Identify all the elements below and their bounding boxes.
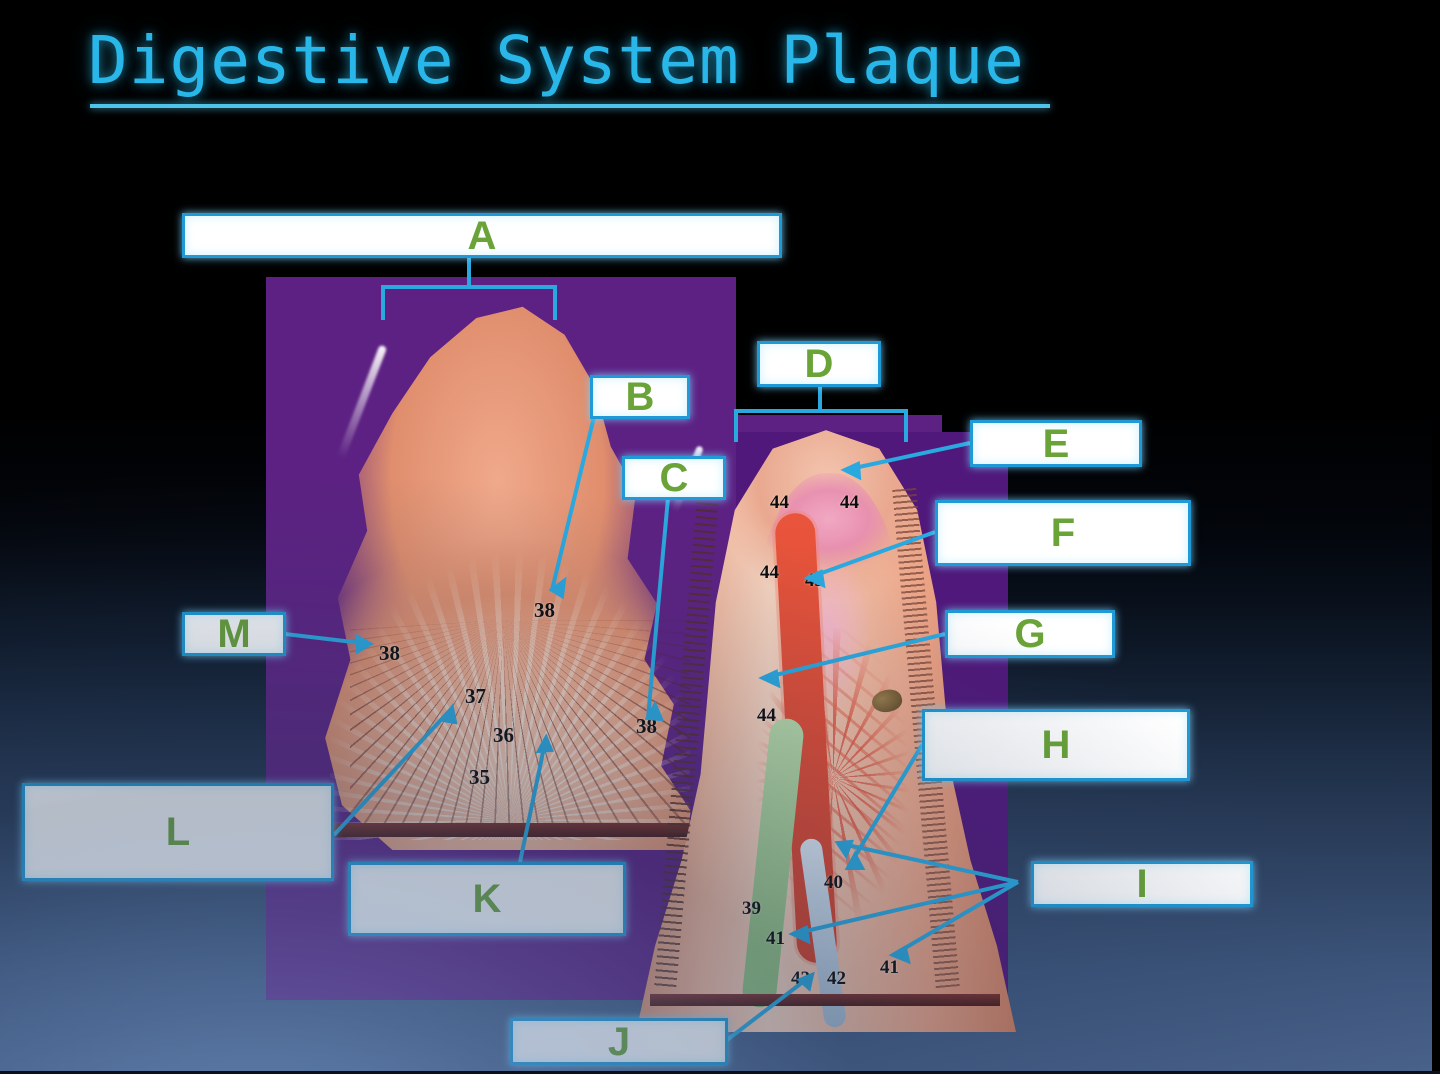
callout-43: 43 bbox=[805, 570, 824, 592]
callout-35: 35 bbox=[469, 765, 490, 790]
callout-38-right: 38 bbox=[636, 714, 657, 739]
callout-44-lower-left: 44 bbox=[757, 705, 776, 727]
callout-37: 37 bbox=[465, 684, 486, 709]
callout-38-upper-right: 38 bbox=[534, 598, 555, 623]
callout-41-left: 41 bbox=[766, 928, 785, 950]
figure-base-edge-right bbox=[650, 994, 1000, 1006]
label-l[interactable]: L bbox=[22, 783, 334, 881]
label-h[interactable]: H bbox=[922, 709, 1190, 781]
callout-42-left: 42 bbox=[791, 968, 810, 990]
callout-39: 39 bbox=[742, 898, 761, 920]
label-b[interactable]: B bbox=[590, 375, 690, 419]
label-c[interactable]: C bbox=[622, 456, 726, 500]
label-i[interactable]: I bbox=[1031, 861, 1253, 907]
right-edge-border bbox=[1432, 0, 1440, 1074]
label-j[interactable]: J bbox=[510, 1018, 728, 1065]
slide-canvas: 38 38 38 37 36 35 44 44 44 44 43 39 40 4… bbox=[0, 0, 1440, 1074]
label-d[interactable]: D bbox=[757, 341, 881, 387]
label-m[interactable]: M bbox=[182, 612, 286, 656]
callout-40: 40 bbox=[824, 872, 843, 894]
callout-44-top-right: 44 bbox=[840, 492, 859, 514]
label-g[interactable]: G bbox=[945, 610, 1115, 658]
callout-36: 36 bbox=[493, 723, 514, 748]
label-e[interactable]: E bbox=[970, 420, 1142, 467]
callout-42-right: 42 bbox=[827, 968, 846, 990]
label-f[interactable]: F bbox=[935, 500, 1191, 566]
label-k[interactable]: K bbox=[348, 862, 626, 936]
page-title: Digestive System Plaque bbox=[88, 26, 1025, 95]
title-underline bbox=[90, 104, 1050, 108]
callout-44-top-left: 44 bbox=[770, 492, 789, 514]
callout-44-mid-left: 44 bbox=[760, 562, 779, 584]
label-a[interactable]: A bbox=[182, 213, 782, 258]
callout-38-left: 38 bbox=[379, 641, 400, 666]
callout-41-right: 41 bbox=[880, 957, 899, 979]
